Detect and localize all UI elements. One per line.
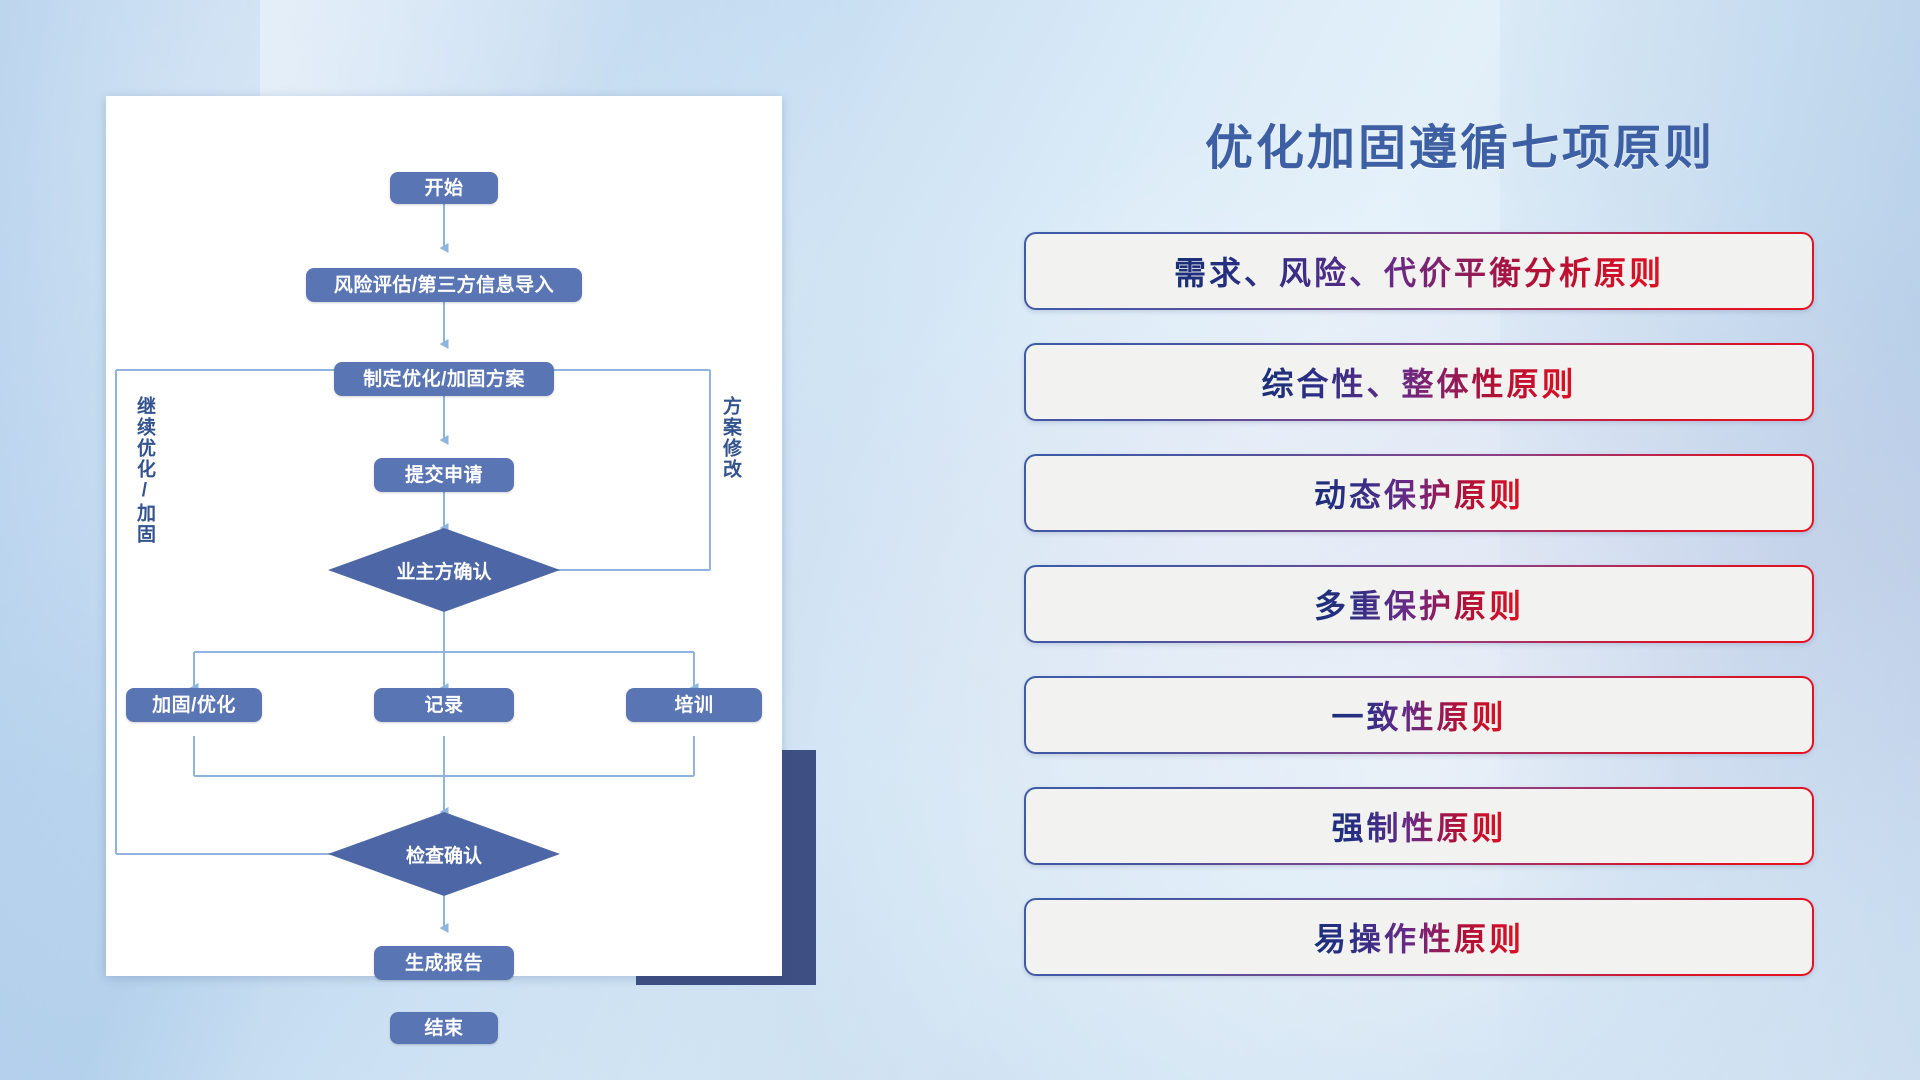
flow-edge-label-continue-optimize: 继续优化/加固 [134, 396, 154, 586]
principle-card[interactable]: 需求、风险、代价平衡分析原则 [1024, 232, 1814, 310]
flow-node-risk-assessment[interactable]: 风险评估/第三方信息导入 [306, 268, 582, 302]
flow-node-plan[interactable]: 制定优化/加固方案 [334, 362, 554, 396]
flow-node-training[interactable]: 培训 [626, 688, 762, 722]
flow-node-reinforce-label: 加固/优化 [152, 696, 236, 715]
flow-decision-owner-confirm-label: 业主方确认 [396, 557, 491, 584]
flow-node-report-label: 生成报告 [405, 954, 483, 973]
principle-card-label: 需求、风险、代价平衡分析原则 [1174, 248, 1664, 294]
principle-card[interactable]: 多重保护原则 [1024, 565, 1814, 643]
principle-card-inner: 动态保护原则 [1026, 456, 1812, 530]
principle-card-inner: 易操作性原则 [1026, 900, 1812, 974]
flow-node-record-label: 记录 [424, 696, 463, 715]
principles-card-list: 需求、风险、代价平衡分析原则 综合性、整体性原则 动态保护原则 多重保护原则 一… [1024, 232, 1814, 1009]
flow-node-risk-assessment-label: 风险评估/第三方信息导入 [334, 276, 554, 295]
flow-edge-label-plan-revision: 方案修改 [720, 396, 740, 526]
flow-node-end-label: 结束 [424, 1019, 463, 1038]
flow-node-report[interactable]: 生成报告 [374, 946, 514, 980]
flow-decision-inspection-label: 检查确认 [406, 841, 482, 868]
flow-node-plan-label: 制定优化/加固方案 [363, 370, 525, 389]
flow-node-end[interactable]: 结束 [390, 1012, 498, 1044]
principle-card-inner: 多重保护原则 [1026, 567, 1812, 641]
flowchart-canvas: 开始 风险评估/第三方信息导入 制定优化/加固方案 提交申请 业主方确认 加固/… [106, 96, 782, 976]
principle-card-inner: 需求、风险、代价平衡分析原则 [1026, 234, 1812, 308]
principle-card-label: 易操作性原则 [1314, 914, 1524, 960]
principle-card[interactable]: 易操作性原则 [1024, 898, 1814, 976]
principle-card-inner: 一致性原则 [1026, 678, 1812, 752]
flow-node-submit[interactable]: 提交申请 [374, 458, 514, 492]
principle-card[interactable]: 一致性原则 [1024, 676, 1814, 754]
flow-node-start-label: 开始 [424, 179, 463, 198]
principles-panel: 优化加固遵循七项原则 需求、风险、代价平衡分析原则 综合性、整体性原则 动态保护… [1000, 0, 1920, 1080]
principles-title: 优化加固遵循七项原则 [1000, 108, 1920, 178]
principle-card-label: 综合性、整体性原则 [1261, 359, 1576, 405]
flow-node-training-label: 培训 [674, 696, 713, 715]
principle-card-label: 动态保护原则 [1314, 470, 1524, 516]
principle-card-label: 强制性原则 [1331, 803, 1506, 849]
principle-card-inner: 综合性、整体性原则 [1026, 345, 1812, 419]
flow-node-reinforce[interactable]: 加固/优化 [126, 688, 262, 722]
flowchart-panel: 开始 风险评估/第三方信息导入 制定优化/加固方案 提交申请 业主方确认 加固/… [0, 0, 880, 1080]
principle-card-label: 多重保护原则 [1314, 581, 1524, 627]
principle-card-label: 一致性原则 [1331, 692, 1506, 738]
flow-node-start[interactable]: 开始 [390, 172, 498, 204]
principle-card-inner: 强制性原则 [1026, 789, 1812, 863]
flow-node-submit-label: 提交申请 [405, 466, 483, 485]
flow-node-record[interactable]: 记录 [374, 688, 514, 722]
flowchart-card: 开始 风险评估/第三方信息导入 制定优化/加固方案 提交申请 业主方确认 加固/… [106, 96, 782, 976]
principle-card[interactable]: 动态保护原则 [1024, 454, 1814, 532]
principle-card[interactable]: 强制性原则 [1024, 787, 1814, 865]
principle-card[interactable]: 综合性、整体性原则 [1024, 343, 1814, 421]
